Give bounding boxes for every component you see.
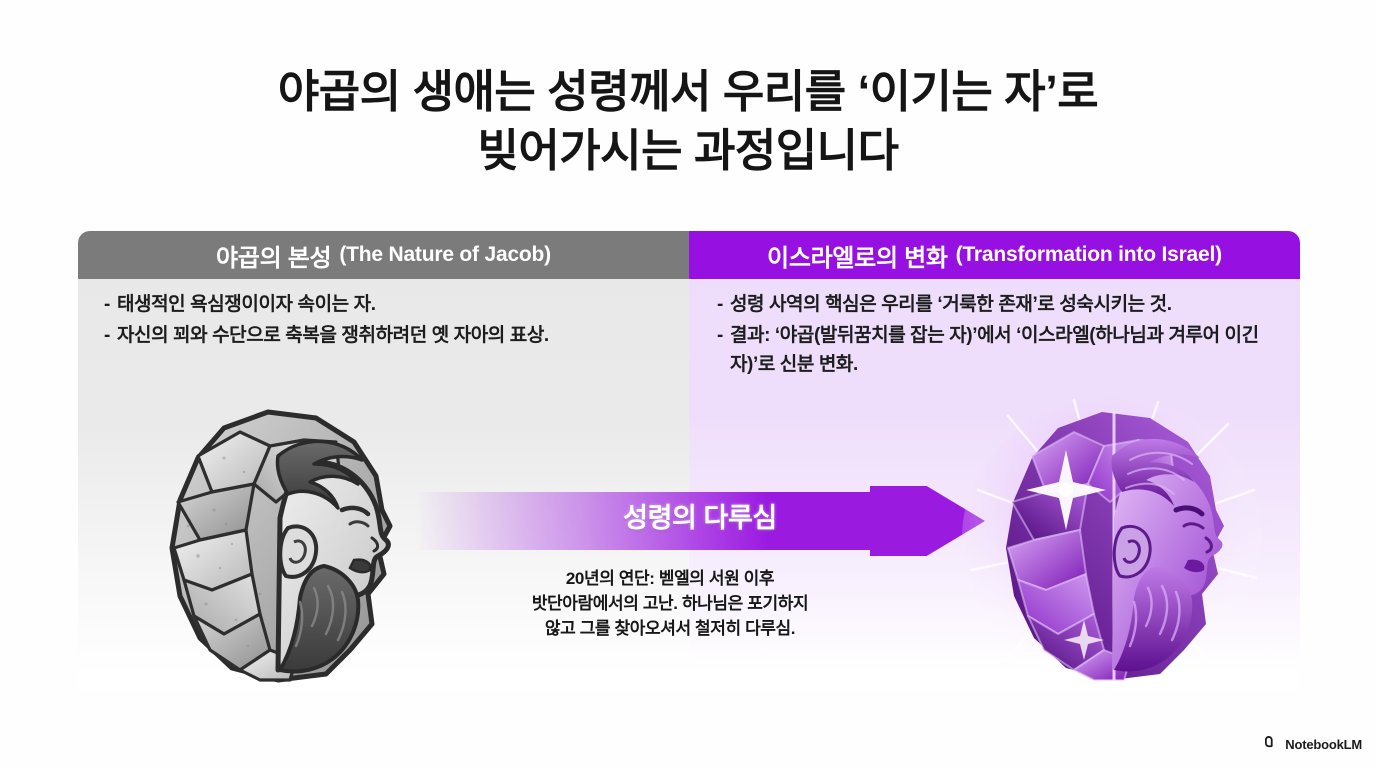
bullet-dash: - [717,322,723,380]
panel-left-header: 야곱의 본성 (The Nature of Jacob) [78,231,689,279]
bullet-text: 성령 사역의 핵심은 우리를 ‘거룩한 존재’로 성숙시키는 것. [730,291,1287,320]
panel-left-bullets: - 태생적인 욕심쟁이이자 속이는 자. - 자신의 꾀와 수단으로 축복을 쟁… [104,291,669,353]
arrow-caption: 20년의 연단: 벧엘의 서원 이후 밧단아람에서의 고난. 하나님은 포기하지… [455,566,885,641]
panel-right-bullets: - 성령 사역의 핵심은 우리를 ‘거룩한 존재’로 성숙시키는 것. - 결과… [717,291,1287,382]
list-item: - 태생적인 욕심쟁이이자 속이는 자. [104,291,669,320]
list-item: - 자신의 꾀와 수단으로 축복을 쟁취하려던 옛 자아의 표상. [104,322,669,351]
transformation-arrow [415,486,985,556]
bullet-text: 자신의 꾀와 수단으로 축복을 쟁취하려던 옛 자아의 표상. [117,322,669,351]
bullet-dash: - [104,291,110,320]
crystal-head-illustration [962,398,1262,688]
list-item: - 성령 사역의 핵심은 우리를 ‘거룩한 존재’로 성숙시키는 것. [717,291,1287,320]
panel-left-header-en: (The Nature of Jacob) [339,243,551,267]
list-item: - 결과: ‘야곱(발뒤꿈치를 잡는 자)’에서 ‘이스라엘(하나님과 겨루어 … [717,322,1287,380]
panel-right-header-ko: 이스라엘로의 변화 [767,238,948,273]
panel-right-header-en: (Transformation into Israel) [956,243,1222,267]
bullet-dash: - [104,322,110,351]
stone-head-illustration [128,398,428,688]
notebooklm-icon [1265,734,1280,754]
bullet-dash: - [717,291,723,320]
bullet-text: 태생적인 욕심쟁이이자 속이는 자. [117,291,669,320]
arrow-caption-lead: 20년의 연단: [566,569,655,588]
bullet-text: 결과: ‘야곱(발뒤꿈치를 잡는 자)’에서 ‘이스라엘(하나님과 겨루어 이긴… [730,322,1287,380]
panel-left-header-ko: 야곱의 본성 [216,238,331,273]
notebooklm-label: NotebookLM [1285,737,1362,752]
page-title: 야곱의 생애는 성령께서 우리를 ‘이기는 자’로 빚어가시는 과정입니다 [0,62,1376,181]
panel-right-header: 이스라엘로의 변화 (Transformation into Israel) [689,231,1300,279]
slide-canvas: 야곱의 생애는 성령께서 우리를 ‘이기는 자’로 빚어가시는 과정입니다 야곱… [0,0,1376,768]
notebooklm-watermark: NotebookLM [1265,734,1362,754]
